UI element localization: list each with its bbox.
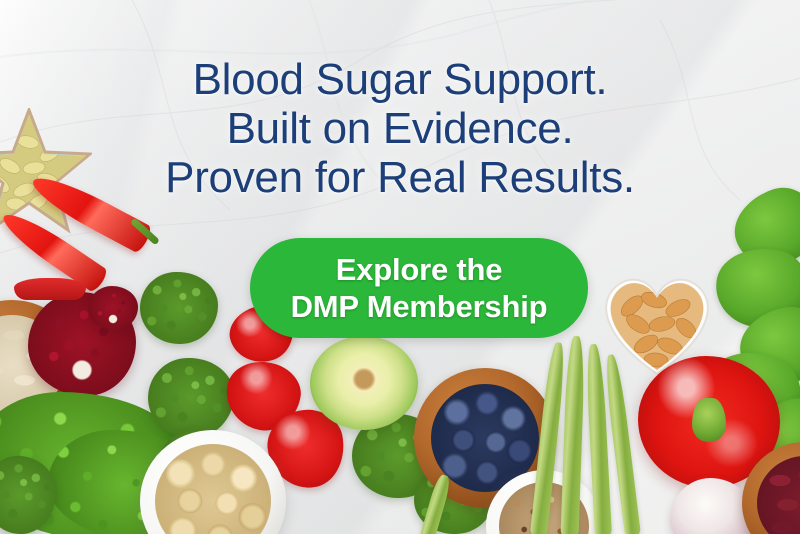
headline-line-3: Proven for Real Results. [0, 153, 800, 202]
headline-line-1: Blood Sugar Support. [0, 55, 800, 104]
broccoli-floret [148, 358, 234, 438]
explore-dmp-membership-button[interactable]: Explore the DMP Membership [250, 238, 588, 338]
kidney-beans [757, 456, 800, 534]
cta-line-1: Explore the [336, 251, 503, 288]
promo-banner: Blood Sugar Support. Built on Evidence. … [0, 0, 800, 534]
avocado-half [310, 336, 418, 430]
pomegranate-rind [14, 278, 86, 300]
page-title: Blood Sugar Support. Built on Evidence. … [0, 55, 800, 202]
headline-line-2: Built on Evidence. [0, 104, 800, 153]
chickpeas [155, 444, 271, 534]
bell-pepper-stem [692, 398, 726, 442]
cta-line-2: DMP Membership [291, 288, 548, 325]
broccoli-floret [140, 272, 218, 344]
pomegranate-piece [88, 286, 138, 330]
